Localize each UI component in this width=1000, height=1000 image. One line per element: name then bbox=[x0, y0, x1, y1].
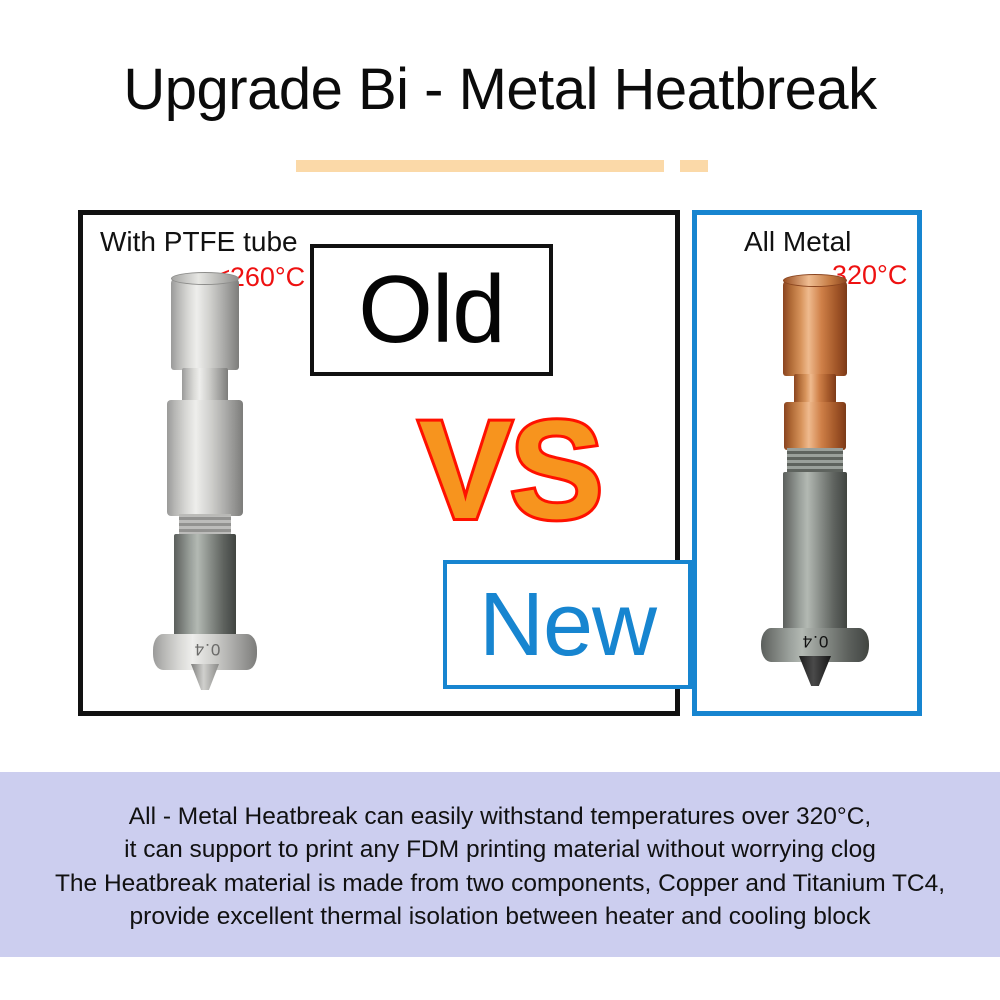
new-heatbreak-copper-body bbox=[784, 402, 846, 450]
new-badge-label: New bbox=[479, 580, 656, 670]
versus-badge: VS bbox=[395, 400, 625, 540]
old-heatbreak-illustration: 0.4 bbox=[155, 278, 255, 668]
old-heatbreak-body bbox=[167, 400, 243, 516]
new-heatbreak-thread bbox=[787, 448, 843, 474]
old-heatbreak-shaft bbox=[174, 534, 236, 640]
new-nozzle-size-marking: 0.4 bbox=[793, 630, 837, 652]
infographic-stage: Upgrade Bi - Metal Heatbreak With PTFE t… bbox=[0, 0, 1000, 1000]
new-callout-label: All Metal bbox=[744, 226, 851, 258]
description-line: All - Metal Heatbreak can easily withsta… bbox=[129, 800, 871, 833]
old-heatbreak-thread bbox=[179, 514, 231, 536]
old-callout-label: With PTFE tube bbox=[100, 226, 298, 258]
old-callout-leader-line bbox=[0, 0, 48, 38]
versus-label: VS bbox=[419, 400, 602, 540]
page-title: Upgrade Bi - Metal Heatbreak bbox=[0, 56, 1000, 123]
new-heatbreak-copper-cap bbox=[783, 280, 847, 376]
old-heatbreak-cap bbox=[171, 278, 239, 370]
description-panel: All - Metal Heatbreak can easily withsta… bbox=[0, 772, 1000, 957]
old-cap-top-ellipse bbox=[171, 272, 239, 285]
old-badge-box: Old bbox=[310, 244, 553, 376]
description-line: it can support to print any FDM printing… bbox=[124, 833, 876, 866]
old-badge-label: Old bbox=[358, 262, 504, 358]
old-nozzle-size-marking: 0.4 bbox=[185, 638, 229, 660]
new-cap-top-ellipse bbox=[783, 274, 847, 287]
old-heatbreak-neck bbox=[182, 368, 228, 402]
description-line: provide excellent thermal isolation betw… bbox=[130, 900, 871, 933]
description-line: The Heatbreak material is made from two … bbox=[55, 867, 945, 900]
divider-bar-long bbox=[296, 160, 664, 172]
new-heatbreak-illustration: 0.4 bbox=[765, 280, 865, 680]
new-heatbreak-copper-neck bbox=[794, 374, 836, 404]
new-heatbreak-titanium-shaft bbox=[783, 472, 847, 634]
divider-bar-short bbox=[680, 160, 708, 172]
new-badge-box: New bbox=[443, 560, 692, 689]
